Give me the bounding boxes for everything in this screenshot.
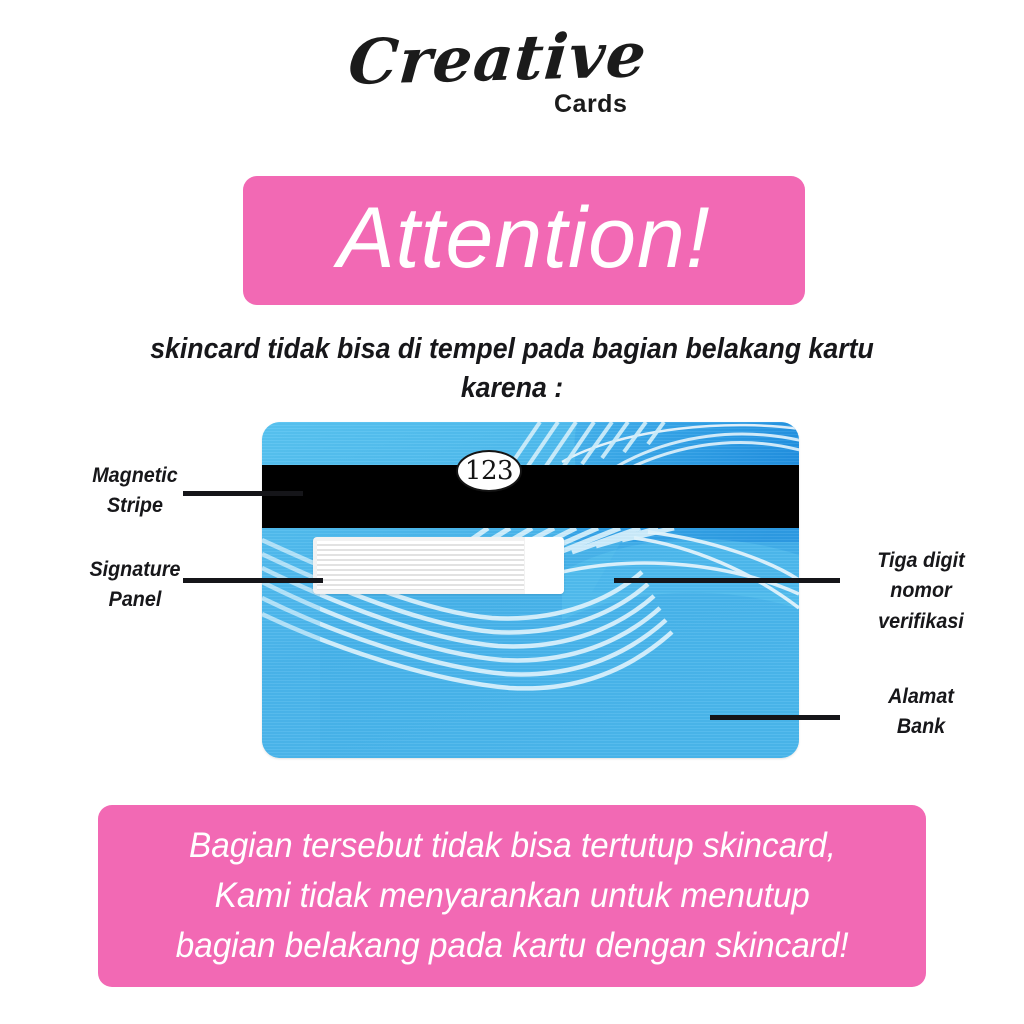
callout-cvv: Tiga digit nomor verifikasi <box>851 546 992 637</box>
callout-magnetic-stripe-line-2: Stripe <box>46 491 225 521</box>
subtitle: skincard tidak bisa di tempel pada bagia… <box>98 330 926 408</box>
brand-script-name: Creative <box>347 24 650 94</box>
callout-bank-address-line-2: Bank <box>851 712 992 742</box>
signature-panel <box>313 537 564 594</box>
cvv-highlight-ellipse: 123 <box>456 450 522 492</box>
bottom-note-line-1: Bagian tersebut tidak bisa tertutup skin… <box>189 821 836 871</box>
infographic-root: Creative Cards Attention! skincard tidak… <box>0 0 1024 1024</box>
bottom-note-line-3: bagian belakang pada kartu dengan skinca… <box>176 921 849 971</box>
cvv-value: 123 <box>465 458 513 484</box>
attention-headline: Attention! <box>337 195 710 281</box>
signature-panel-lines <box>317 541 524 590</box>
callout-magnetic-stripe-line-1: Magnetic <box>46 461 225 491</box>
bottom-note-box: Bagian tersebut tidak bisa tertutup skin… <box>98 805 926 987</box>
subtitle-line-1: skincard tidak bisa di tempel pada bagia… <box>98 330 926 369</box>
callout-magnetic-stripe: Magnetic Stripe <box>46 461 225 522</box>
callout-bank-address-line-1: Alamat <box>851 682 992 712</box>
callout-cvv-line-2: nomor <box>851 576 992 606</box>
leader-line-cvv <box>614 578 840 583</box>
callout-signature-panel-line-2: Panel <box>46 585 225 615</box>
brand-sub-name: Cards <box>554 90 627 119</box>
callout-signature-panel-line-1: Signature <box>46 555 225 585</box>
callout-cvv-line-3: verifikasi <box>851 607 992 637</box>
brand-logo: Creative Cards <box>0 28 1024 90</box>
attention-banner: Attention! <box>243 176 805 305</box>
cvv-white-box <box>525 537 564 594</box>
magnetic-stripe <box>262 465 799 528</box>
callout-bank-address: Alamat Bank <box>851 682 992 743</box>
subtitle-line-2: karena : <box>98 369 926 408</box>
bottom-note-line-2: Kami tidak menyarankan untuk menutup <box>214 871 809 921</box>
credit-card-back-illustration: 123 <box>262 422 799 758</box>
leader-line-bank-address <box>710 715 840 720</box>
callout-cvv-line-1: Tiga digit <box>851 546 992 576</box>
callout-signature-panel: Signature Panel <box>46 555 225 616</box>
